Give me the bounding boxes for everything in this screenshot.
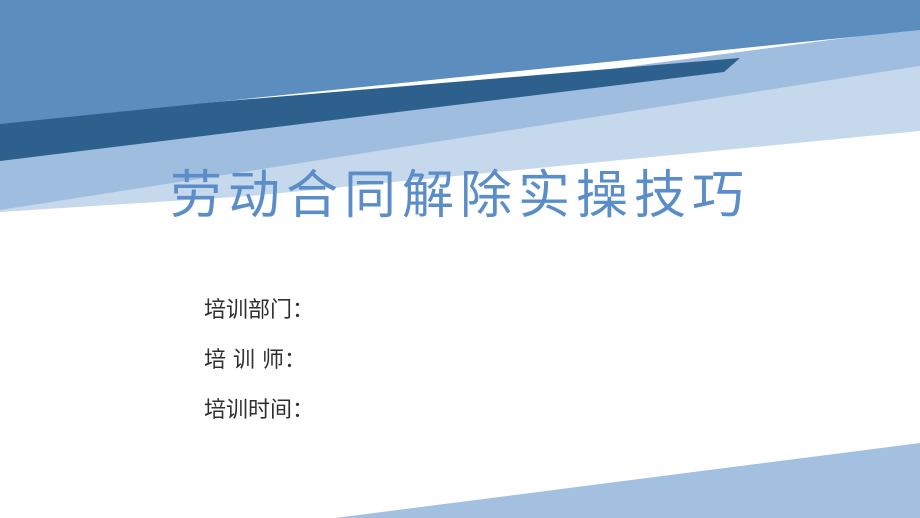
decorative-background [0, 0, 920, 518]
subtitle-line-trainer: 培 训 师： [204, 350, 624, 372]
title-slide: 劳动合同解除实操技巧 培训部门： 培 训 师： 培训时间： [0, 0, 920, 518]
subtitle-container: 培训部门： 培 训 师： 培训时间： [204, 300, 624, 422]
bottom-blue-triangle-shape [335, 443, 920, 518]
subtitle-line-department: 培训部门： [204, 300, 624, 322]
top-blue-band-shape [0, 0, 920, 124]
subtitle-line-time: 培训时间： [204, 400, 624, 422]
title-container: 劳动合同解除实操技巧 [0, 168, 920, 224]
page-title: 劳动合同解除实操技巧 [170, 168, 750, 224]
dark-navy-wedge-shape [0, 58, 740, 161]
